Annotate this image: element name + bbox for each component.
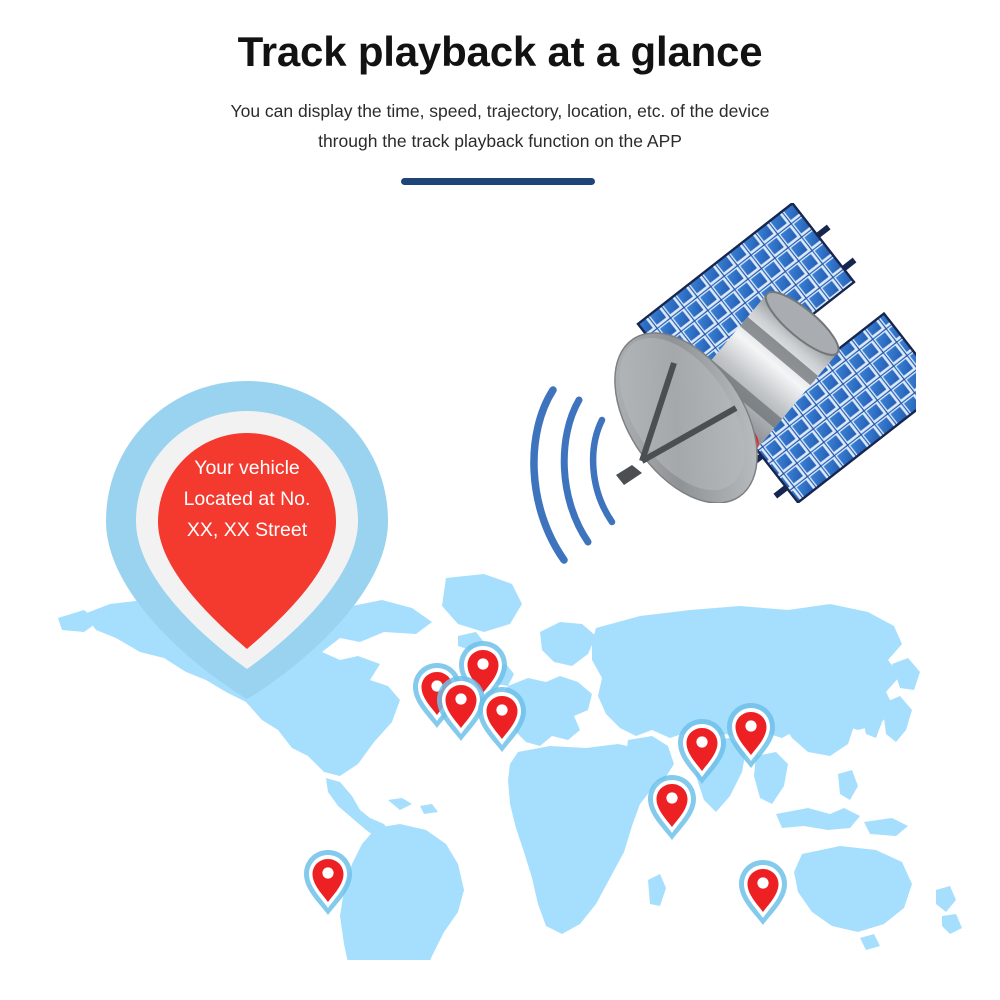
marker-japan[interactable] <box>727 703 775 768</box>
vehicle-pin-icon <box>92 375 402 705</box>
vehicle-location-pin[interactable]: Your vehicle Located at No. XX, XX Stree… <box>92 375 402 705</box>
signal-wave-outer <box>534 390 564 560</box>
marker-east-asia[interactable] <box>678 719 726 784</box>
signal-wave-middle <box>564 400 588 542</box>
satellite-icon <box>596 203 916 503</box>
poster-canvas: Track playback at a glance You can displ… <box>0 0 1000 1000</box>
marker-australia[interactable] <box>739 860 787 925</box>
marker-southern-europe[interactable] <box>478 687 526 752</box>
marker-south-america[interactable] <box>304 850 352 915</box>
marker-central-europe[interactable] <box>437 676 485 741</box>
marker-southeast-asia[interactable] <box>648 775 696 840</box>
